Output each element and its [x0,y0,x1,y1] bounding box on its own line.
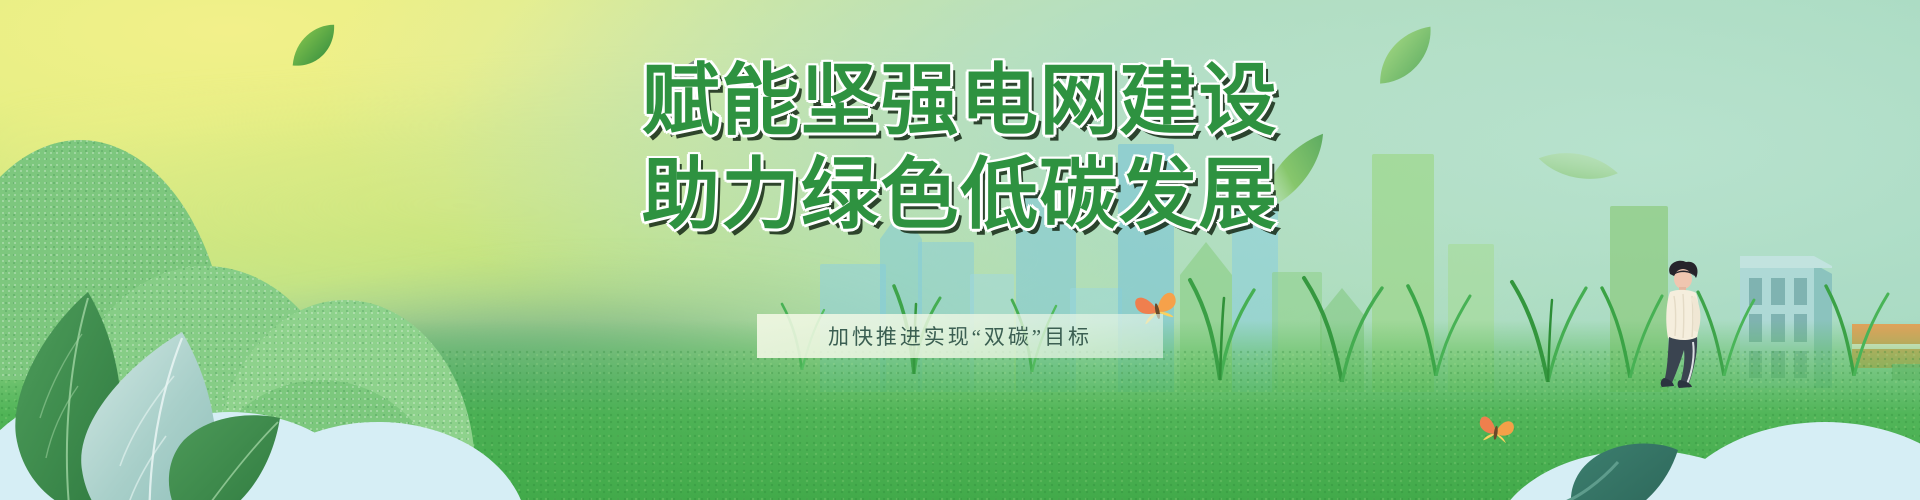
building-roof-face [1740,256,1832,268]
leaf-foreground-right [1560,440,1680,500]
eco-banner: 加快推进实现“双碳”目标 赋能坚强电网建设 助力绿色低碳发展 [0,0,1920,500]
walking-person [1652,258,1712,390]
butterfly-icon [1475,412,1519,449]
leaf-foreground-small [156,412,286,500]
subtitle-band: 加快推进实现“双碳”目标 [757,314,1163,358]
subtitle-text: 加快推进实现“双碳”目标 [828,321,1092,351]
swallow-bird-icon [640,58,706,106]
